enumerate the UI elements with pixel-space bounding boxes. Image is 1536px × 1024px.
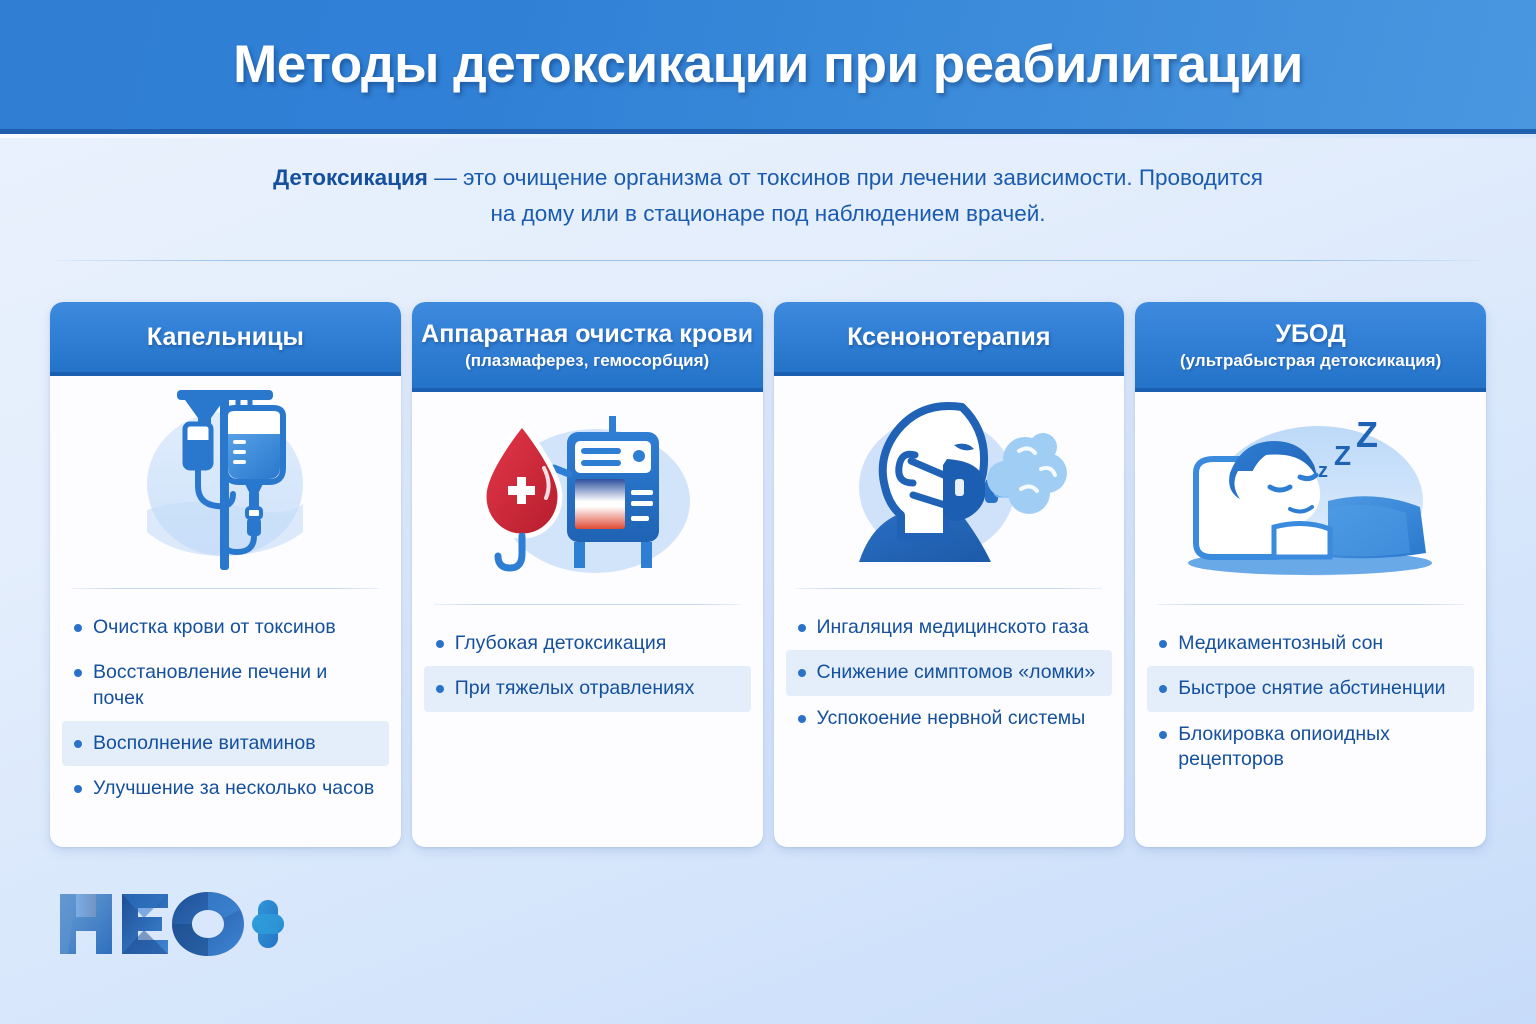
svg-text:Z: Z xyxy=(1356,414,1378,455)
bullet-dot-icon xyxy=(436,685,444,693)
card-title: Капельницы xyxy=(147,324,304,351)
subtitle-line-1: Детоксикация — это очищение организма от… xyxy=(168,160,1368,196)
page-header: Методы детоксикации при реабилитации xyxy=(0,0,1536,134)
inhalation-mask-icon xyxy=(829,387,1069,577)
list-item: При тяжелых отравлениях xyxy=(424,666,751,711)
blood-purification-icon xyxy=(470,406,705,591)
card-title: Ксенонотерапия xyxy=(847,324,1050,351)
subtitle-line-1-rest: — это очищение организма от токсинов при… xyxy=(428,165,1263,190)
list-item-label: Улучшение за несколько часов xyxy=(93,776,374,801)
card-header: Ксенонотерапия xyxy=(774,302,1125,376)
list-item: Улучшение за несколько часов xyxy=(62,766,389,811)
iv-drip-icon xyxy=(125,382,325,582)
card-apparatnaya-ochistka-krovi[interactable]: Аппаратная очистка крови (плазмаферез, г… xyxy=(412,302,763,847)
bullet-dot-icon xyxy=(74,785,82,793)
list-item: Ингаляция медицинското газа xyxy=(786,605,1113,650)
bullet-dot-icon xyxy=(74,669,82,677)
list-item-label: Блокировка опиоидных рецепторов xyxy=(1178,722,1462,773)
card-bullet-list: Медикаментозный сон Быстрое снятие абсти… xyxy=(1135,605,1486,847)
bullet-dot-icon xyxy=(798,715,806,723)
card-icon-area xyxy=(50,376,401,588)
card-ubod[interactable]: УБОД (ультрабыстрая детоксикация) xyxy=(1135,302,1486,847)
subtitle-block: Детоксикация — это очищение организма от… xyxy=(168,160,1368,233)
list-item-label: Успокоение нервной системы xyxy=(817,706,1086,731)
subtitle-lead: Детоксикация xyxy=(273,165,428,190)
list-item-label: Быстрое снятие абстиненции xyxy=(1178,676,1445,701)
card-title: Аппаратная очистка крови xyxy=(421,321,753,348)
list-item-label: При тяжелых отравлениях xyxy=(455,676,695,701)
subtitle-line-2: на дому или в стационаре под наблюдением… xyxy=(168,196,1368,232)
list-item-label: Глубокая детоксикация xyxy=(455,631,667,656)
card-bullet-list: Очистка крови от токсинов Восстановление… xyxy=(50,589,401,847)
list-item: Снижение симптомов «ломки» xyxy=(786,650,1113,695)
page-title: Методы детоксикации при реабилитации xyxy=(233,34,1303,95)
svg-text:Z: Z xyxy=(1334,440,1351,471)
list-item-label: Восполнение витаминов xyxy=(93,731,316,756)
card-title: УБОД xyxy=(1275,321,1345,348)
list-item-label: Восстановление печени и почек xyxy=(93,660,377,711)
card-icon-area xyxy=(412,392,763,604)
card-subtitle: (ультрабыстрая детоксикация) xyxy=(1180,351,1441,371)
svg-text:z: z xyxy=(1318,460,1328,482)
sleeping-patient-icon: z Z Z xyxy=(1178,411,1443,586)
list-item-label: Очистка крови от токсинов xyxy=(93,615,336,640)
card-header: УБОД (ультрабыстрая детоксикация) xyxy=(1135,302,1486,392)
card-icon-area: z Z Z xyxy=(1135,392,1486,604)
list-item: Глубокая детоксикация xyxy=(424,621,751,666)
list-item-label: Снижение симптомов «ломки» xyxy=(817,660,1096,685)
card-subtitle: (плазмаферез, гемосорбция) xyxy=(465,351,709,371)
card-bullet-list: Глубокая детоксикация При тяжелых отравл… xyxy=(412,605,763,847)
bullet-dot-icon xyxy=(798,624,806,632)
list-item-label: Медикаментозный сон xyxy=(1178,631,1383,656)
card-header: Аппаратная очистка крови (плазмаферез, г… xyxy=(412,302,763,392)
list-item: Быстрое снятие абстиненции xyxy=(1147,666,1474,711)
list-item: Очистка крови от токсинов xyxy=(62,605,389,650)
method-cards-row: Капельницы xyxy=(50,302,1486,847)
bullet-dot-icon xyxy=(798,669,806,677)
bullet-dot-icon xyxy=(1159,685,1167,693)
card-icon-area xyxy=(774,376,1125,588)
card-ksenonoterapiya[interactable]: Ксенонотерапия xyxy=(774,302,1125,847)
section-divider xyxy=(57,260,1479,261)
card-bullet-list: Ингаляция медицинското газа Снижение сим… xyxy=(774,589,1125,847)
neo-plus-logo xyxy=(56,888,286,960)
card-kapelnitsy[interactable]: Капельницы xyxy=(50,302,401,847)
list-item: Успокоение нервной системы xyxy=(786,696,1113,741)
bullet-dot-icon xyxy=(74,740,82,748)
bullet-dot-icon xyxy=(1159,640,1167,648)
list-item: Медикаментозный сон xyxy=(1147,621,1474,666)
bullet-dot-icon xyxy=(1159,731,1167,739)
bullet-dot-icon xyxy=(74,624,82,632)
list-item: Восстановление печени и почек xyxy=(62,650,389,721)
neo-plus-logo-mark xyxy=(56,888,286,960)
list-item: Восполнение витаминов xyxy=(62,721,389,766)
list-item-label: Ингаляция медицинското газа xyxy=(817,615,1089,640)
card-header: Капельницы xyxy=(50,302,401,376)
list-item: Блокировка опиоидных рецепторов xyxy=(1147,712,1474,783)
bullet-dot-icon xyxy=(436,640,444,648)
